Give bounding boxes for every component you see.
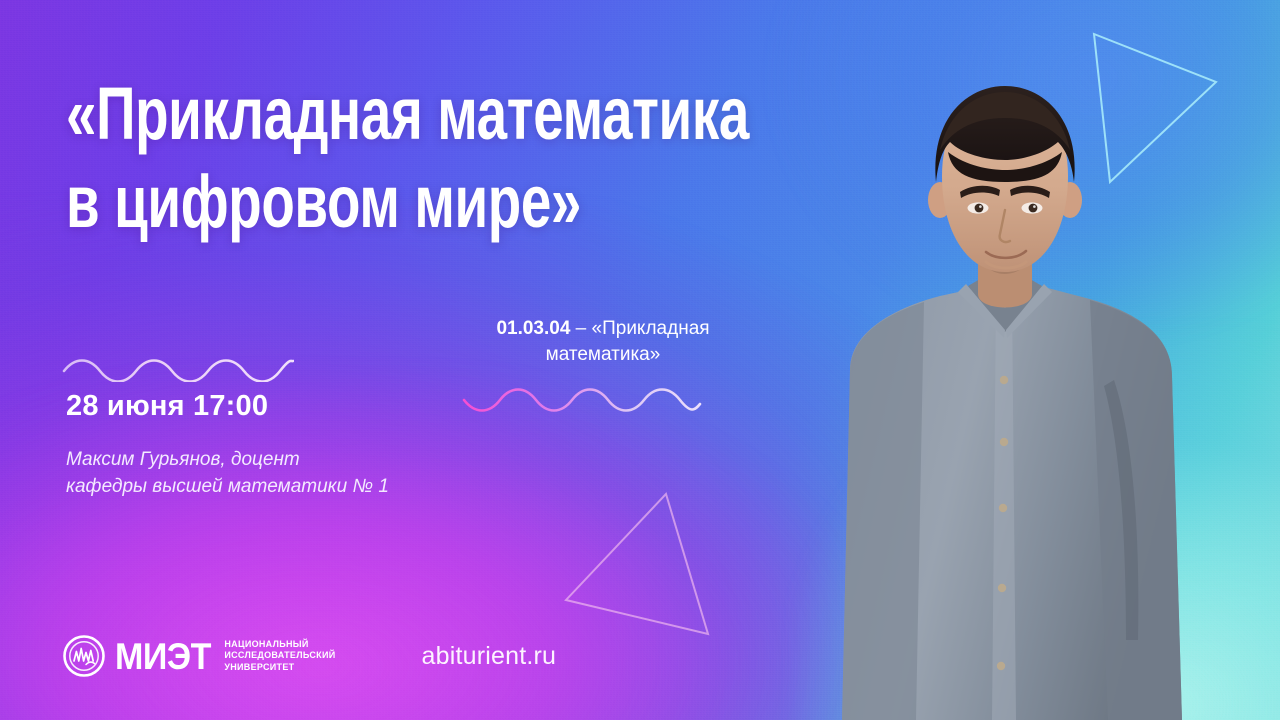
event-datetime: 28 июня 17:00: [66, 390, 268, 423]
page-title: «Прикладная математика в цифровом мире»: [66, 78, 651, 238]
miet-emblem-icon: [62, 634, 106, 678]
miet-subtitle-line-1: НАЦИОНАЛЬНЫЙ: [224, 639, 335, 651]
speaker-info: Максим Гурьянов, доцент кафедры высшей м…: [66, 447, 496, 501]
title-line-1: «Прикладная математика: [66, 78, 651, 150]
miet-subtitle: НАЦИОНАЛЬНЫЙ ИССЛЕДОВАТЕЛЬСКИЙ УНИВЕРСИТ…: [224, 639, 335, 674]
miet-subtitle-line-3: УНИВЕРСИТЕТ: [224, 662, 335, 674]
miet-wordmark: МИЭТ: [115, 638, 211, 675]
title-line-2: в цифровом мире»: [66, 166, 651, 238]
miet-subtitle-line-2: ИССЛЕДОВАТЕЛЬСКИЙ: [224, 650, 335, 662]
footer-bar: МИЭТ НАЦИОНАЛЬНЫЙ ИССЛЕДОВАТЕЛЬСКИЙ УНИВ…: [62, 634, 556, 678]
program-name-line-2: математика»: [546, 344, 661, 365]
speaker-dept-line: кафедры высшей математики № 1: [66, 474, 496, 501]
program-code: 01.03.04: [496, 318, 570, 339]
program-name: «Прикладная: [592, 318, 710, 339]
promo-slide: «Прикладная математика в цифровом мире» …: [0, 0, 1280, 720]
program-separator: –: [570, 318, 591, 339]
speaker-portrait: [790, 80, 1220, 720]
website-url[interactable]: abiturient.ru: [422, 642, 557, 671]
program-label: 01.03.04 – «Прикладная математика»: [458, 316, 748, 368]
speaker-name-line: Максим Гурьянов, доцент: [66, 447, 496, 474]
miet-logo[interactable]: МИЭТ НАЦИОНАЛЬНЫЙ ИССЛЕДОВАТЕЛЬСКИЙ УНИВ…: [62, 634, 336, 678]
